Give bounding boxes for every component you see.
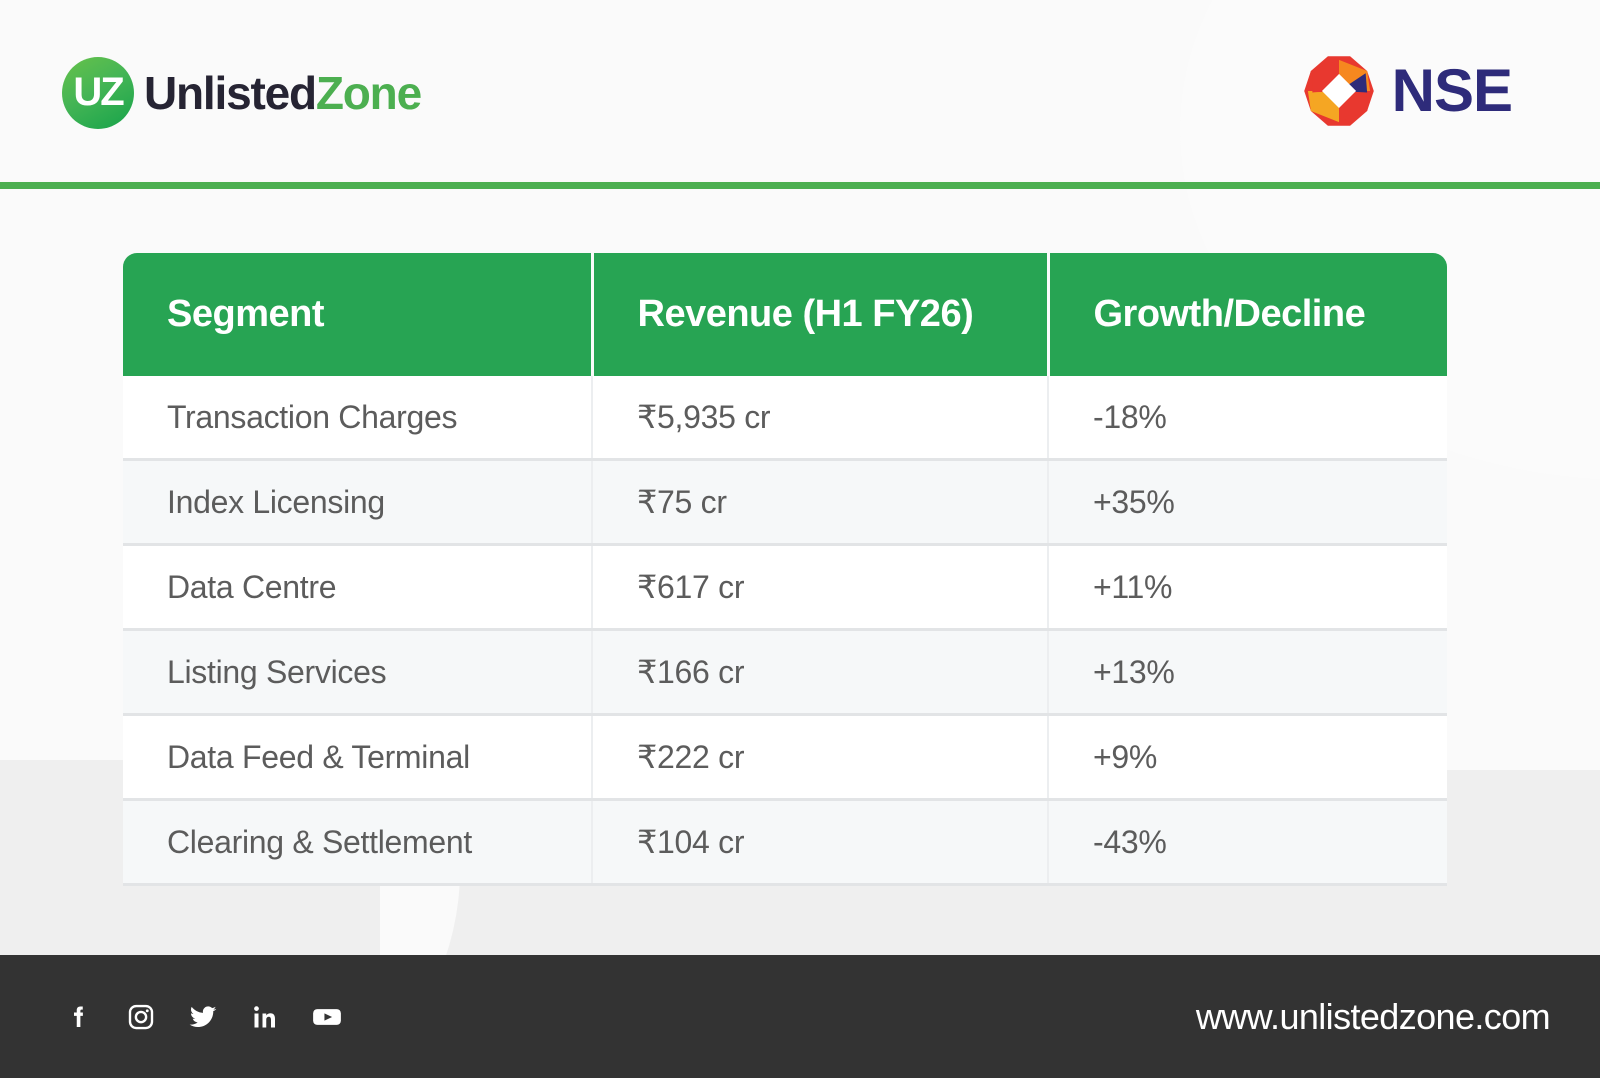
column-header-segment: Segment: [123, 253, 592, 376]
column-header-growth: Growth/Decline: [1048, 253, 1447, 376]
cell-growth: +9%: [1048, 715, 1447, 800]
table-row: Transaction Charges ₹5,935 cr -18%: [123, 376, 1447, 460]
table-header-row: Segment Revenue (H1 FY26) Growth/Decline: [123, 253, 1447, 376]
cell-segment: Clearing & Settlement: [123, 800, 592, 885]
instagram-icon[interactable]: [124, 1000, 158, 1034]
cell-revenue: ₹104 cr: [592, 800, 1048, 885]
table-row: Data Centre ₹617 cr +11%: [123, 545, 1447, 630]
page-header: UZ UnlistedZone: [0, 0, 1600, 185]
column-header-revenue: Revenue (H1 FY26): [592, 253, 1048, 376]
table-row: Index Licensing ₹75 cr +35%: [123, 460, 1447, 545]
brand-name: UnlistedZone: [144, 70, 421, 116]
cell-growth: +11%: [1048, 545, 1447, 630]
brand-logo[interactable]: UZ UnlistedZone: [62, 57, 421, 129]
cell-revenue: ₹5,935 cr: [592, 376, 1048, 460]
cell-revenue: ₹222 cr: [592, 715, 1048, 800]
cell-revenue: ₹166 cr: [592, 630, 1048, 715]
cell-segment: Index Licensing: [123, 460, 592, 545]
social-links: [62, 1000, 344, 1034]
cell-segment: Listing Services: [123, 630, 592, 715]
cell-growth: +13%: [1048, 630, 1447, 715]
nse-octagon-icon: [1302, 54, 1376, 128]
cell-growth: -18%: [1048, 376, 1447, 460]
segment-revenue-table: Segment Revenue (H1 FY26) Growth/Decline…: [123, 253, 1447, 886]
website-url[interactable]: www.unlistedzone.com: [1196, 996, 1550, 1038]
cell-growth: -43%: [1048, 800, 1447, 885]
header-divider: [0, 182, 1600, 189]
poster-canvas: UZ UnlistedZone: [0, 0, 1600, 1078]
cell-segment: Transaction Charges: [123, 376, 592, 460]
cell-segment: Data Centre: [123, 545, 592, 630]
uz-monogram-label: UZ: [62, 57, 134, 129]
cell-growth: +35%: [1048, 460, 1447, 545]
twitter-icon[interactable]: [186, 1000, 220, 1034]
brand-name-primary: Unlisted: [144, 67, 316, 119]
table-row: Listing Services ₹166 cr +13%: [123, 630, 1447, 715]
youtube-icon[interactable]: [310, 1000, 344, 1034]
brand-name-accent: Zone: [316, 67, 421, 119]
table-row: Data Feed & Terminal ₹222 cr +9%: [123, 715, 1447, 800]
linkedin-icon[interactable]: [248, 1000, 282, 1034]
nse-logo: NSE: [1302, 54, 1512, 128]
cell-revenue: ₹75 cr: [592, 460, 1048, 545]
table-row: Clearing & Settlement ₹104 cr -43%: [123, 800, 1447, 885]
cell-segment: Data Feed & Terminal: [123, 715, 592, 800]
page-footer: www.unlistedzone.com: [0, 955, 1600, 1078]
cell-revenue: ₹617 cr: [592, 545, 1048, 630]
facebook-icon[interactable]: [62, 1000, 96, 1034]
nse-wordmark: NSE: [1392, 61, 1512, 121]
uz-monogram-icon: UZ: [62, 57, 134, 129]
